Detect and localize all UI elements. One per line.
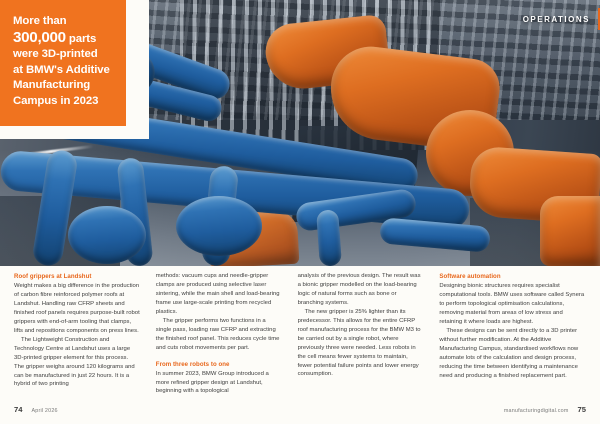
page-number-left: 74 [14, 405, 22, 414]
article-body: Roof grippers at Landshut Weight makes a… [0, 272, 600, 398]
gripper-node [68, 206, 146, 264]
issue-date: April 2026 [31, 408, 57, 414]
column-2-paragraph-2: The gripper performs two functions in a … [156, 317, 282, 353]
headline-line-4: at BMW's Additive [13, 63, 113, 79]
article-column-3: analysis of the previous design. The res… [298, 272, 440, 398]
footer-right: manufacturingdigital.com 75 [504, 405, 586, 414]
headline-line-2-rest: parts [66, 33, 96, 45]
section-tab-label: OPERATIONS [523, 15, 590, 24]
gripper-node [176, 196, 262, 256]
robot-arm-base [540, 196, 600, 266]
column-2-paragraph-3: In summer 2023, BMW Group introduced a m… [156, 370, 282, 397]
column-3-paragraph-1: analysis of the previous design. The res… [298, 272, 424, 308]
column-1-paragraph-2: The Lightweight Construction and Technol… [14, 336, 140, 390]
section-tab: OPERATIONS [523, 8, 600, 30]
article-column-1: Roof grippers at Landshut Weight makes a… [14, 272, 156, 398]
column-4-paragraph-1: Designing bionic structures requires spe… [439, 282, 586, 327]
gripper-strut [316, 209, 342, 266]
headline-line-6: Campus in 2023 [13, 94, 113, 110]
pull-quote-box: More than 300,000 parts were 3D-printed … [0, 0, 126, 126]
headline-statistic: 300,000 [13, 29, 66, 46]
headline-line-2: 300,000 parts [13, 30, 113, 48]
column-4-paragraph-2: These designs can be sent directly to a … [439, 327, 586, 381]
column-3-paragraph-2: The new gripper is 25% lighter than its … [298, 308, 424, 380]
column-2-subhead: From three robots to one [156, 360, 282, 369]
headline-container: More than 300,000 parts were 3D-printed … [0, 0, 149, 139]
footer-left: 74 April 2026 [14, 405, 58, 414]
column-2-paragraph-1: methods: vacuum cups and needle-gripper … [156, 272, 282, 317]
headline-line-3: were 3D-printed [13, 47, 113, 63]
column-1-paragraph-1: Weight makes a big difference in the pro… [14, 282, 140, 336]
headline-line-5: Manufacturing [13, 78, 113, 94]
column-1-subhead: Roof grippers at Landshut [14, 272, 140, 281]
article-column-2: methods: vacuum cups and needle-gripper … [156, 272, 298, 398]
article-column-4: Software automation Designing bionic str… [439, 272, 586, 398]
headline-line-1: More than [13, 14, 113, 30]
magazine-page-spread: OPERATIONS More than 300,000 parts were … [0, 0, 600, 424]
page-number-right: 75 [578, 405, 586, 414]
website-url: manufacturingdigital.com [504, 408, 569, 414]
column-4-subhead: Software automation [439, 272, 586, 281]
